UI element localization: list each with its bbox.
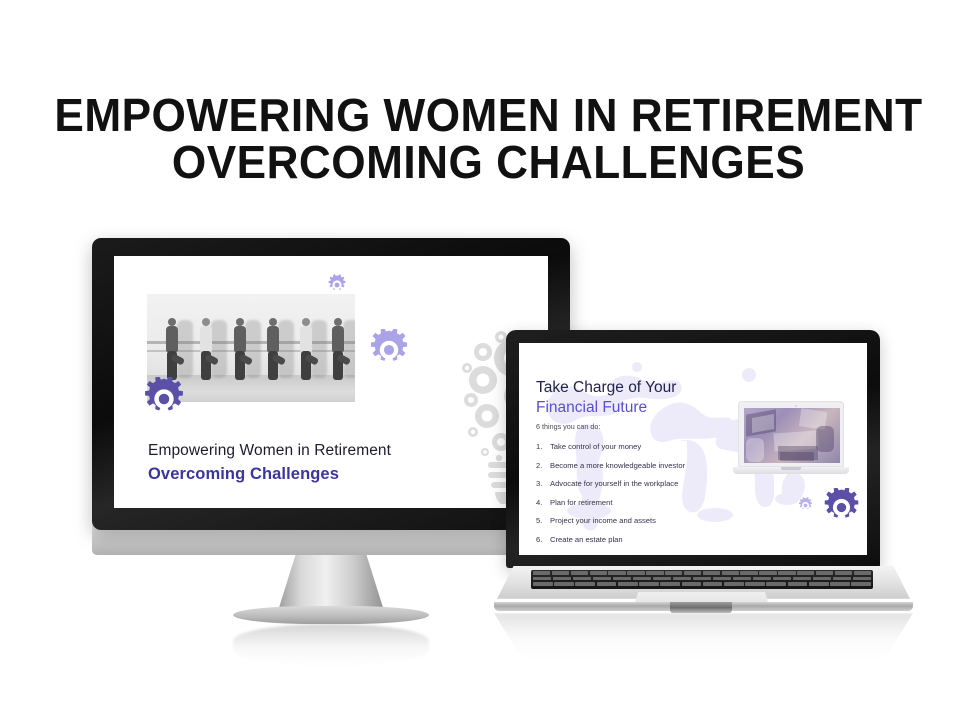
monitor-base <box>233 606 429 624</box>
desktop-monitor: Empowering Women in Retirement Overcomin… <box>92 238 570 530</box>
figure <box>297 318 315 380</box>
page-title-line-2: OVERCOMING CHALLENGES <box>20 139 958 186</box>
gear-icon-large-slide2 <box>822 488 861 527</box>
presentation-slide-title: Empowering Women in Retirement Overcomin… <box>114 256 548 508</box>
numbered-list: 1. Take control of your money 2. Become … <box>536 442 736 554</box>
laptop-screen: Take Charge of Your Financial Future 6 t… <box>519 343 867 555</box>
gear-icon-small-slide2 <box>797 497 814 514</box>
list-item-label: Plan for retirement <box>550 498 612 507</box>
list-item-label: Become a more knowledgeable investor <box>550 461 685 470</box>
list-item: 1. Take control of your money <box>536 442 736 451</box>
figure <box>197 318 215 380</box>
list-item-number: 4. <box>536 498 550 507</box>
laptop-lid: Take Charge of Your Financial Future 6 t… <box>506 330 880 568</box>
slide-title-primary: Empowering Women in Retirement <box>148 442 391 460</box>
gear-icon-deep-purple-lower-left <box>142 377 186 421</box>
slide-title-block: Empowering Women in Retirement Overcomin… <box>148 442 391 484</box>
list-item: 3. Advocate for yourself in the workplac… <box>536 479 736 488</box>
keyboard-row <box>531 581 873 587</box>
laptop-keyboard <box>531 570 873 589</box>
figure <box>163 318 181 380</box>
list-item-number: 5. <box>536 516 550 525</box>
slide-title-secondary: Overcoming Challenges <box>148 465 391 484</box>
gear-icon-large-center <box>368 329 410 371</box>
monitor-reflection <box>233 624 429 666</box>
desktop-monitor-screen: Empowering Women in Retirement Overcomin… <box>114 256 548 508</box>
list-item-number: 2. <box>536 461 550 470</box>
monitor-stand <box>277 552 385 614</box>
slide-heading-line-1: Take Charge of Your <box>536 379 676 397</box>
figure <box>329 318 347 380</box>
list-item-label: Advocate for yourself in the workplace <box>550 479 678 488</box>
slide-heading-line-2: Financial Future <box>536 399 647 417</box>
list-item: 4. Plan for retirement <box>536 498 736 507</box>
figure <box>231 318 249 380</box>
list-item-label: Project your income and assets <box>550 516 656 525</box>
slide-subheading: 6 things you can do: <box>536 422 600 431</box>
monitor-chin-area <box>92 525 570 561</box>
page-title: EMPOWERING WOMEN IN RETIREMENT OVERCOMIN… <box>0 92 977 186</box>
list-item-number: 1. <box>536 442 550 451</box>
page-title-line-1: EMPOWERING WOMEN IN RETIREMENT <box>20 92 958 139</box>
inner-laptop-notch <box>781 467 801 470</box>
list-item: 2. Become a more knowledgeable investor <box>536 461 736 470</box>
inner-laptop-mockup <box>733 401 849 477</box>
laptop-front-notch <box>670 602 732 613</box>
list-item-label: Take control of your money <box>550 442 641 451</box>
list-item-number: 3. <box>536 479 550 488</box>
presentation-slide-content: Take Charge of Your Financial Future 6 t… <box>519 343 867 555</box>
laptop-reflection <box>494 613 913 661</box>
meeting-photo <box>744 408 840 463</box>
list-item: 6. Create an estate plan <box>536 535 736 544</box>
inner-laptop-lid <box>738 401 844 467</box>
figure <box>264 318 282 380</box>
list-item-label: Create an estate plan <box>550 535 623 544</box>
list-item-number: 6. <box>536 535 550 544</box>
gear-icon-small-top <box>326 274 348 296</box>
list-item: 5. Project your income and assets <box>536 516 736 525</box>
webcam-icon <box>795 405 797 407</box>
